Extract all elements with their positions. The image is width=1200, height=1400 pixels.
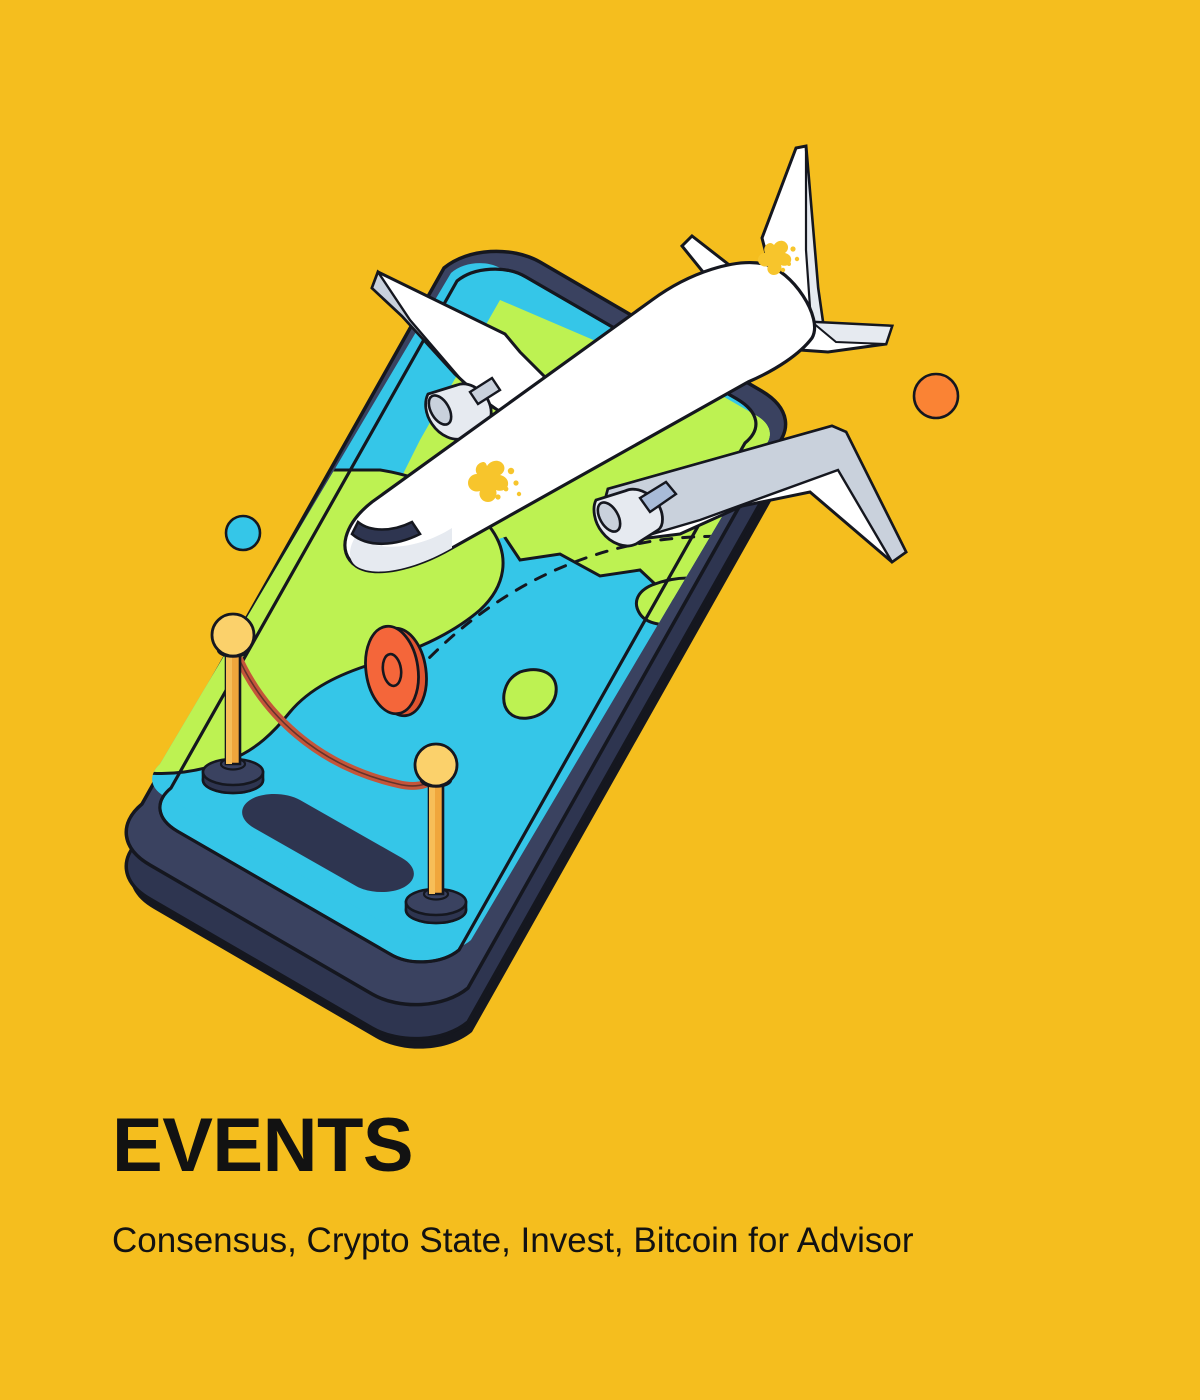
page-subtitle: Consensus, Crypto State, Invest, Bitcoin…: [112, 1220, 1112, 1262]
events-illustration: [0, 0, 1200, 1100]
poster-root: EVENTS Consensus, Crypto State, Invest, …: [0, 0, 1200, 1400]
stanchion-right-post-highlight: [429, 780, 435, 894]
stanchion-left-post-highlight: [226, 650, 232, 764]
stanchion-left-ball: [212, 614, 254, 656]
stanchion-right-ball: [415, 744, 457, 786]
caption-block: EVENTS Consensus, Crypto State, Invest, …: [112, 1108, 1112, 1262]
accent-dot-orange-top: [914, 374, 958, 418]
page-title: EVENTS: [112, 1108, 1112, 1184]
accent-dot-cyan: [226, 516, 260, 550]
